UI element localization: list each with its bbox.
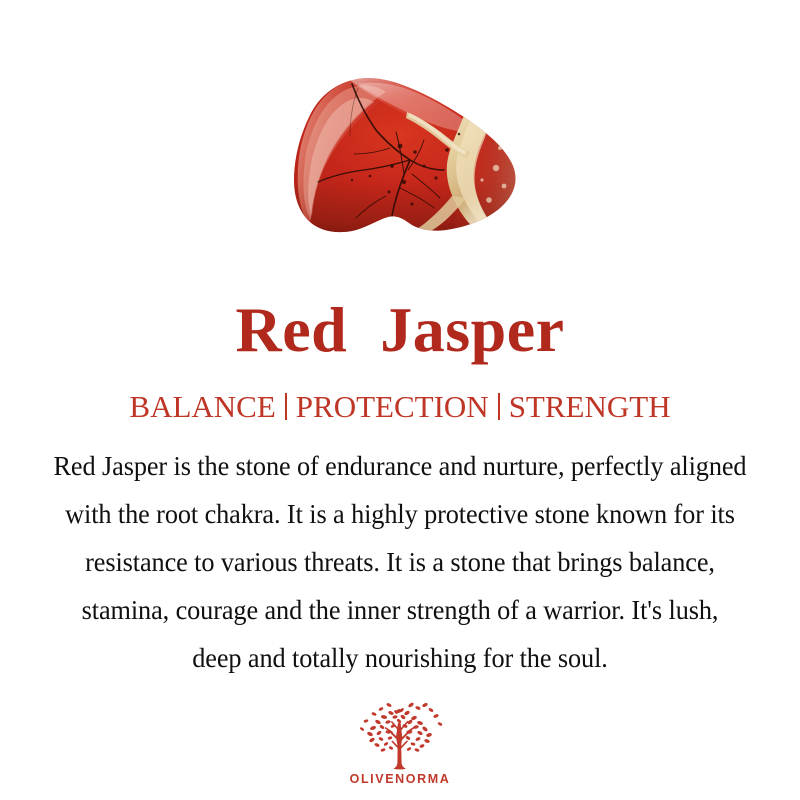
red-jasper-infographic-card: Red Jasper BALANCE PROTECTION STRENGTH R… <box>0 0 800 800</box>
description-paragraph: Red Jasper is the stone of endurance and… <box>5 442 795 682</box>
description-line: resistance to various threats. It is a s… <box>23 538 777 586</box>
page-title: Red Jasper <box>235 298 564 362</box>
keyword-strength: STRENGTH <box>500 391 680 422</box>
brand-wordmark: OLIVENORMA <box>350 772 451 786</box>
description-line: Red Jasper is the stone of endurance and… <box>23 442 777 490</box>
keyword-subtitle: BALANCE PROTECTION STRENGTH <box>120 391 679 422</box>
keyword-balance: BALANCE <box>120 391 284 422</box>
description-line: stamina, courage and the inner strength … <box>23 586 777 634</box>
tree-icon <box>352 699 448 771</box>
red-jasper-tumbled-stone <box>0 0 800 250</box>
keyword-protection: PROTECTION <box>287 391 498 422</box>
description-line: deep and totally nourishing for the soul… <box>23 634 777 682</box>
stone-image-container <box>0 0 800 250</box>
description-line: with the root chakra. It is a highly pro… <box>23 490 777 538</box>
brand-logo: OLIVENORMA <box>0 699 800 786</box>
